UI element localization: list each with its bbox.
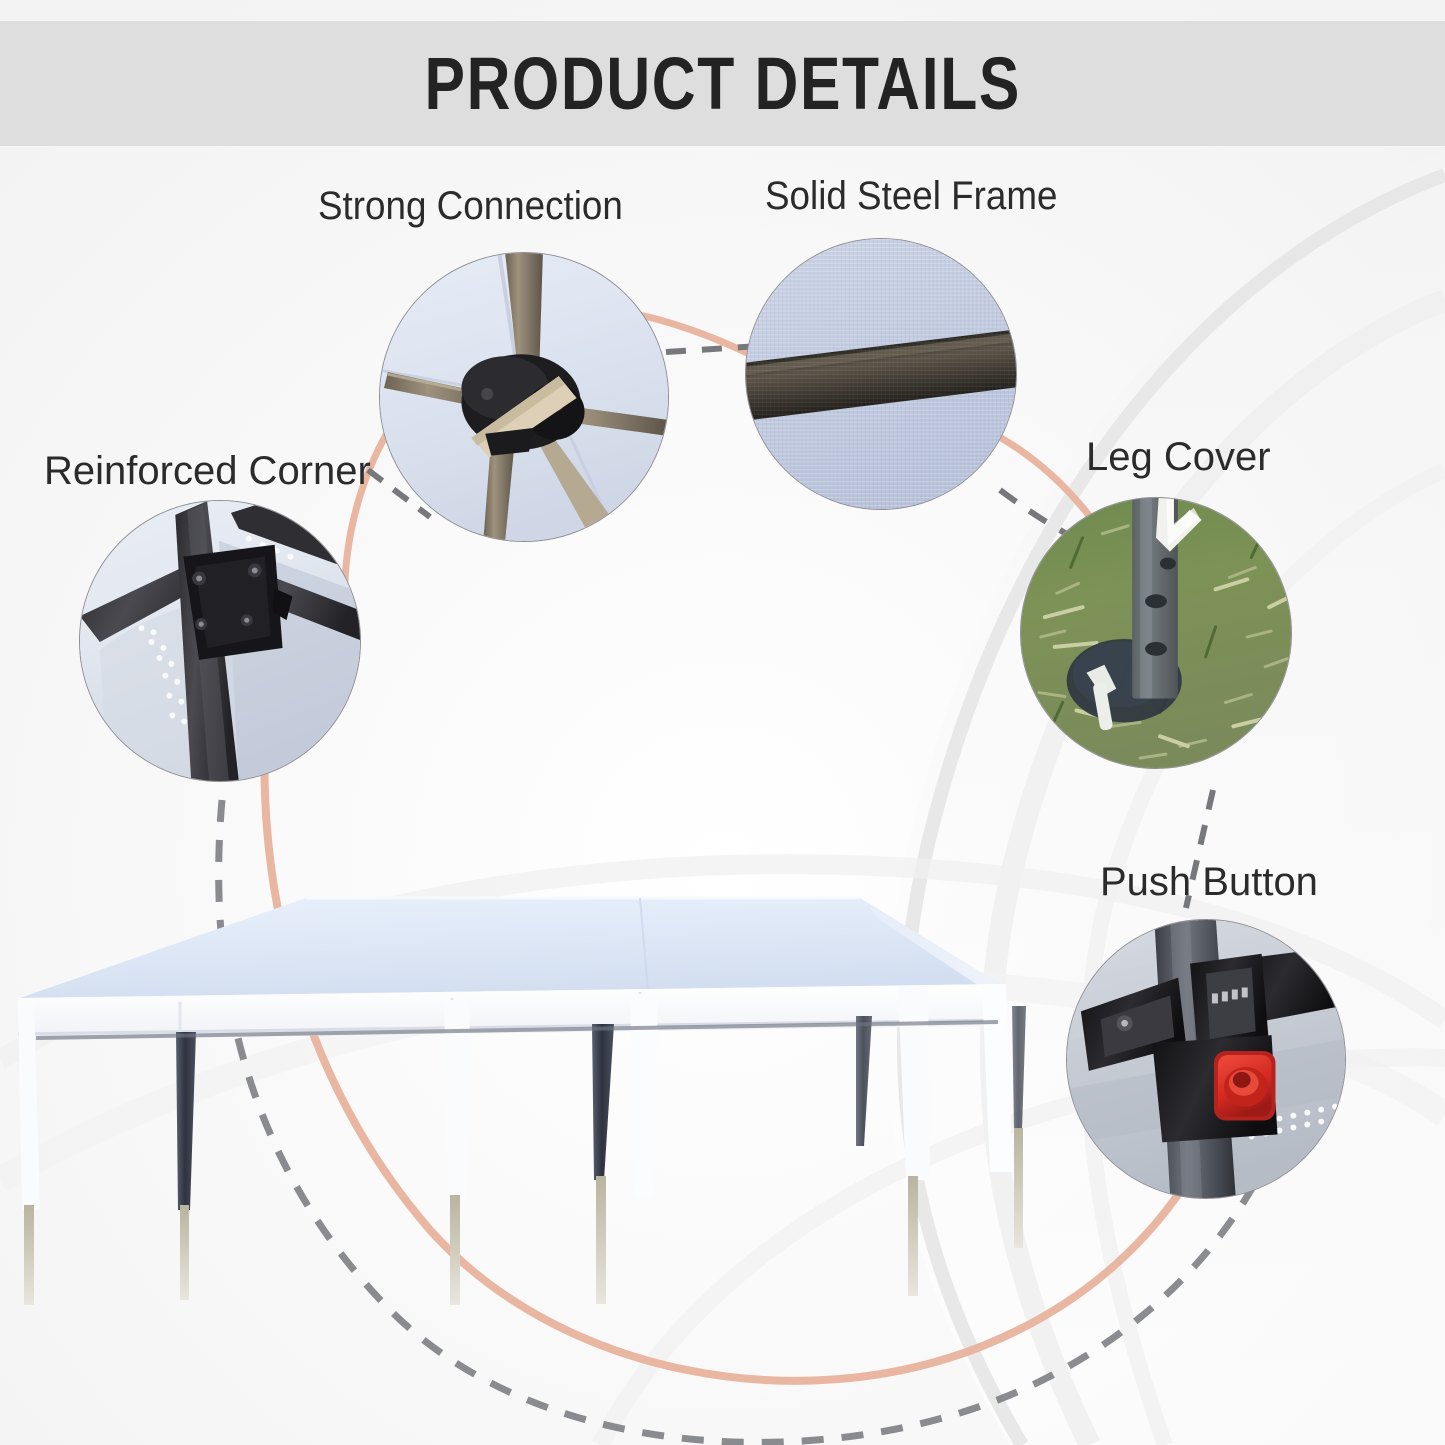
product-details-infographic: PRODUCT DETAILS Strong Connection Solid … [0, 0, 1445, 1445]
product-photo-gazebo [0, 880, 1070, 1310]
detail-photo-solid-steel-frame [745, 238, 1017, 510]
page-title: PRODUCT DETAILS [424, 47, 1021, 121]
callout-label-leg-cover: Leg Cover [1086, 437, 1271, 477]
detail-photo-reinforced-corner [79, 500, 361, 782]
detail-photo-strong-connection [379, 252, 669, 542]
detail-photo-leg-cover [1020, 497, 1292, 769]
detail-photo-push-button [1066, 919, 1346, 1199]
callout-label-reinforced-corner: Reinforced Corner [44, 451, 371, 491]
header-band: PRODUCT DETAILS [0, 21, 1445, 146]
callout-label-push-button: Push Button [1100, 862, 1318, 902]
callout-label-strong-connection: Strong Connection [318, 186, 623, 226]
callout-label-solid-steel-frame: Solid Steel Frame [765, 176, 1057, 216]
